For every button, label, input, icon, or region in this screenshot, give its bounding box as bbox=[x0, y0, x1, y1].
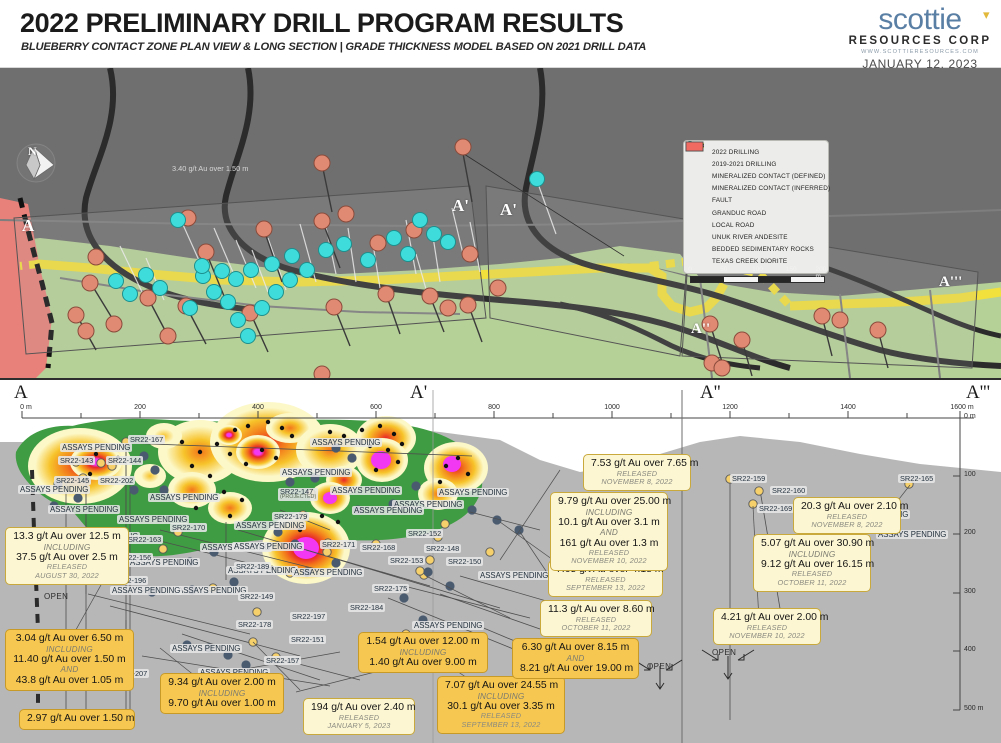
assays-pending-label: ASSAYS PENDING bbox=[330, 486, 402, 495]
callout-c14[interactable]: 5.07 g/t Au over 30.90 m INCLUDING 9.12 … bbox=[753, 534, 871, 592]
drill-label: SR22-175 bbox=[372, 584, 409, 593]
drill-label: SR22-189 bbox=[234, 562, 271, 571]
drill-label-projected: SR22-147(PROJECTED) bbox=[278, 488, 318, 501]
plan-scale-bar: 0 50 100 150 200 m bbox=[690, 266, 825, 283]
drill-label: SR22-184 bbox=[348, 603, 385, 612]
section-label-A: A bbox=[14, 382, 28, 404]
assays-pending-label: ASSAYS PENDING bbox=[60, 443, 132, 452]
callout-c11[interactable]: 9.79 g/t Au over 25.00 m INCLUDING 10.1 … bbox=[550, 492, 668, 571]
drill-label: SR22-149 bbox=[238, 592, 275, 601]
depth-tick: 300 bbox=[964, 588, 976, 595]
logo-subtitle: RESOURCES CORP bbox=[845, 35, 995, 47]
assays-pending-label: ASSAYS PENDING bbox=[352, 506, 424, 515]
assays-pending-label: ASSAYS PENDING bbox=[18, 485, 90, 494]
x-tick: 0 m bbox=[20, 404, 32, 411]
scale-tick: 150 bbox=[786, 266, 797, 273]
x-tick: 800 bbox=[488, 404, 500, 411]
plan-view-map[interactable]: A A' A' A'' A''' N 3.40 g/t Au over 1.50… bbox=[0, 68, 1001, 378]
plan-legend: 2022 DRILLING 2019-2021 DRILLING MINERAL… bbox=[683, 140, 829, 274]
scale-tick: 50 bbox=[720, 266, 727, 273]
drill-label: SR22-143 bbox=[58, 456, 95, 465]
section-label-Ap: A' bbox=[410, 382, 427, 404]
assays-pending-label: ASSAYS PENDING bbox=[412, 621, 484, 630]
callout-c7[interactable]: 7.07 g/t Au over 24.55 m INCLUDING 30.1 … bbox=[437, 676, 565, 734]
drill-label: SR22-171 bbox=[320, 540, 357, 549]
drill-label: SR22-160 bbox=[770, 486, 807, 495]
depth-tick: 500 m bbox=[964, 705, 983, 712]
x-tick: 1400 bbox=[840, 404, 856, 411]
depth-tick: 100 bbox=[964, 471, 976, 478]
drill-label: SR22-165 bbox=[898, 474, 935, 483]
drill-label: SR22-197 bbox=[290, 612, 327, 621]
drill-label: SR22-170 bbox=[170, 523, 207, 532]
open-label: OPEN bbox=[712, 648, 736, 657]
drill-label: SR22-169 bbox=[757, 504, 794, 513]
callout-c5[interactable]: 194 g/t Au over 2.40 m RELEASED JANUARY … bbox=[303, 698, 415, 735]
plan-section-marker-App: A'' bbox=[691, 321, 710, 338]
assays-pending-label: ASSAYS PENDING bbox=[110, 586, 182, 595]
x-tick: 600 bbox=[370, 404, 382, 411]
scale-bar-blocks bbox=[690, 276, 825, 283]
logo-tick-icon: ▾ bbox=[983, 1, 989, 29]
drill-label: SR22-178 bbox=[236, 620, 273, 629]
plan-legend-item: UNUK RIVER ANDESITE bbox=[690, 231, 822, 243]
plan-section-marker-Ap2: A' bbox=[500, 200, 517, 220]
page-subtitle: BLUEBERRY CONTACT ZONE PLAN VIEW & LONG … bbox=[21, 41, 646, 53]
callout-c4[interactable]: 9.34 g/t Au over 2.00 m INCLUDING 9.70 g… bbox=[160, 673, 284, 714]
header: 2022 PRELIMINARY DRILL PROGRAM RESULTS B… bbox=[0, 0, 1001, 68]
plan-legend-item: 2019-2021 DRILLING bbox=[690, 158, 822, 170]
drill-label: SR22-163 bbox=[126, 535, 163, 544]
x-tick: 1200 bbox=[722, 404, 738, 411]
plan-legend-item: 2022 DRILLING bbox=[690, 146, 822, 158]
x-tick: 1000 bbox=[604, 404, 620, 411]
drill-label: SR22-145 bbox=[54, 476, 91, 485]
callout-c13[interactable]: 20.3 g/t Au over 2.10 m RELEASED NOVEMBE… bbox=[793, 497, 901, 534]
assays-pending-label: ASSAYS PENDING bbox=[170, 644, 242, 653]
x-tick: 400 bbox=[252, 404, 264, 411]
plan-legend-item: LOCAL ROAD bbox=[690, 219, 822, 231]
compass-north-label: N bbox=[28, 144, 37, 159]
depth-tick: 200 bbox=[964, 529, 976, 536]
infographic-page: 2022 PRELIMINARY DRILL PROGRAM RESULTS B… bbox=[0, 0, 1001, 743]
logo-website: WWW.SCOTTIERESOURCES.COM bbox=[845, 49, 995, 55]
scale-tick: 200 m bbox=[816, 266, 827, 280]
plan-legend-item: MINERALIZED CONTACT (INFERRED) bbox=[690, 183, 822, 195]
x-tick: 200 bbox=[134, 404, 146, 411]
drill-label: SR22-151 bbox=[289, 635, 326, 644]
callout-c15[interactable]: 4.21 g/t Au over 2.00 m RELEASED NOVEMBE… bbox=[713, 608, 821, 645]
drill-label: SR22-152 bbox=[406, 529, 443, 538]
drill-label: SR22-159 bbox=[730, 474, 767, 483]
drill-label: SR22-144 bbox=[106, 456, 143, 465]
callout-c8[interactable]: 6.30 g/t Au over 8.15 m AND 8.21 g/t Au … bbox=[512, 638, 639, 679]
callout-c6[interactable]: 1.54 g/t Au over 12.00 m INCLUDING 1.40 … bbox=[358, 632, 488, 673]
long-section-panel[interactable]: A A' A'' A''' 0 m 200 400 600 800 1000 1… bbox=[0, 378, 1001, 743]
open-label: OPEN bbox=[647, 662, 671, 671]
drill-label: SR22-179 bbox=[272, 512, 309, 521]
plan-legend-item: FAULT bbox=[690, 195, 822, 207]
scale-tick: 0 bbox=[688, 266, 692, 273]
section-label-App: A'' bbox=[700, 382, 721, 404]
assays-pending-label: ASSAYS PENDING bbox=[437, 488, 509, 497]
drill-label: SR22-153 bbox=[388, 556, 425, 565]
plan-section-marker-Ap1: A' bbox=[452, 196, 469, 216]
plan-legend-item: GRANDUC ROAD bbox=[690, 207, 822, 219]
drill-label: SR22-168 bbox=[360, 543, 397, 552]
callout-c1[interactable]: 13.3 g/t Au over 12.5 m INCLUDING 37.5 g… bbox=[5, 527, 129, 585]
plan-legend-item: MINERALIZED CONTACT (DEFINED) bbox=[690, 170, 822, 182]
assays-pending-label: ASSAYS PENDING bbox=[48, 505, 120, 514]
company-logo: scottie▾ RESOURCES CORP WWW.SCOTTIERESOU… bbox=[845, 6, 995, 71]
callout-c9[interactable]: 11.3 g/t Au over 8.60 m RELEASED OCTOBER… bbox=[540, 600, 652, 637]
assays-pending-label: ASSAYS PENDING bbox=[280, 468, 352, 477]
assays-pending-label: ASSAYS PENDING bbox=[148, 493, 220, 502]
x-tick: 1600 m bbox=[950, 404, 973, 411]
assays-pending-label: ASSAYS PENDING bbox=[478, 571, 550, 580]
assays-pending-label: ASSAYS PENDING bbox=[232, 542, 304, 551]
drill-label: SR22-157 bbox=[264, 656, 301, 665]
page-title: 2022 PRELIMINARY DRILL PROGRAM RESULTS bbox=[20, 8, 623, 39]
scale-tick: 100 bbox=[752, 266, 763, 273]
plan-section-marker-Appp: A''' bbox=[939, 274, 962, 291]
plan-section-marker-A: A bbox=[22, 216, 34, 236]
plan-legend-item: BEDDED SEDIMENTARY ROCKS bbox=[690, 244, 822, 256]
drill-label: SR22-202 bbox=[98, 476, 135, 485]
depth-tick: 0 m bbox=[964, 413, 976, 420]
plan-annotation: 3.40 g/t Au over 1.50 m bbox=[172, 164, 248, 173]
drill-label: SR22-150 bbox=[446, 557, 483, 566]
open-label: OPEN bbox=[44, 592, 68, 601]
depth-tick: 400 bbox=[964, 646, 976, 653]
plan-view-svg bbox=[0, 68, 1001, 378]
drill-label: SR22-167 bbox=[128, 435, 165, 444]
section-label-Appp: A''' bbox=[966, 382, 990, 404]
logo-wordmark: scottie▾ bbox=[845, 6, 995, 34]
assays-pending-label: ASSAYS PENDING bbox=[234, 521, 306, 530]
callout-c2[interactable]: 3.04 g/t Au over 6.50 m INCLUDING 11.40 … bbox=[5, 629, 134, 691]
assays-pending-label: ASSAYS PENDING bbox=[310, 438, 382, 447]
callout-c12[interactable]: 7.53 g/t Au over 7.65 m RELEASED NOVEMBE… bbox=[583, 454, 691, 491]
assays-pending-label: ASSAYS PENDING bbox=[292, 568, 364, 577]
callout-c3[interactable]: 2.97 g/t Au over 1.50 m bbox=[19, 709, 135, 730]
drill-label: SR22-148 bbox=[424, 544, 461, 553]
